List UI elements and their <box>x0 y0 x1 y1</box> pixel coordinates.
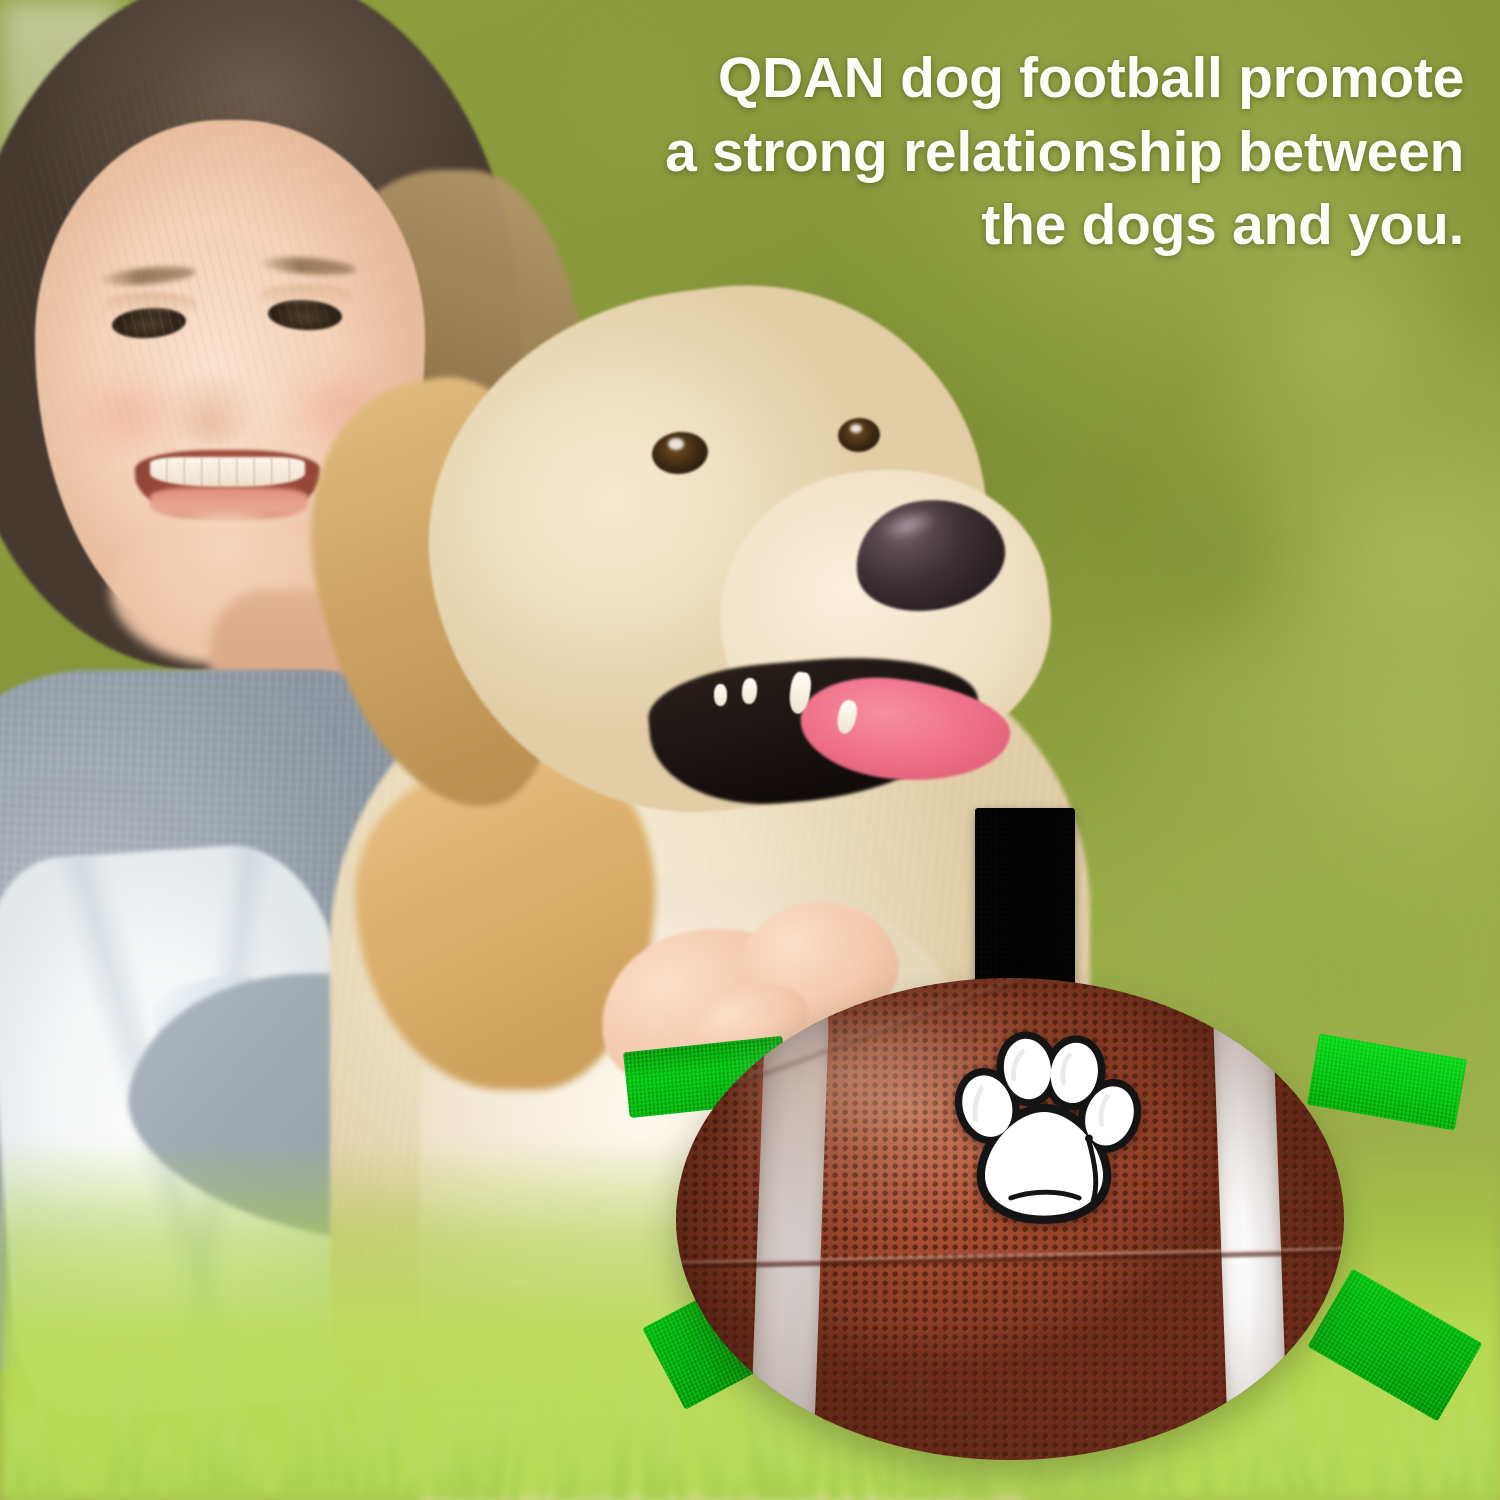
paw-print-icon <box>946 1026 1142 1241</box>
product-image-canvas: QDAN dog football promote a strong relat… <box>0 0 1500 1500</box>
page-headline: QDAN dog football promote a strong relat… <box>584 42 1464 263</box>
